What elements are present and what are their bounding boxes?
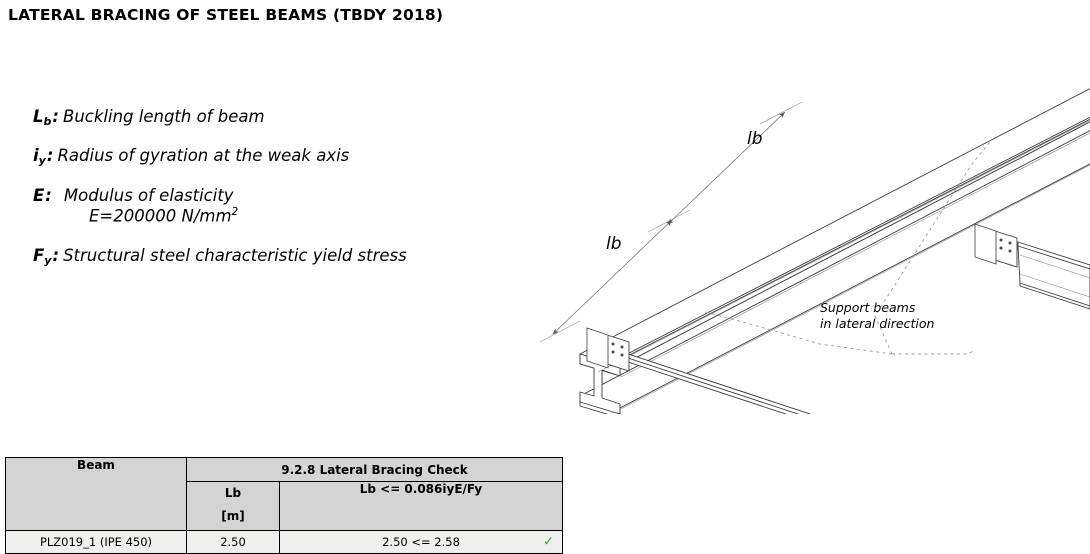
bolt-icon bbox=[1009, 242, 1012, 245]
definition-exponent: 2 bbox=[232, 206, 239, 218]
dimension-label-lb-lower: lb bbox=[606, 234, 622, 254]
definition-symbol-subscript: y bbox=[39, 154, 46, 167]
bolt-icon bbox=[621, 346, 624, 349]
definition-symbol-subscript: b bbox=[44, 115, 52, 128]
isometric-beam-diagram: lb lb Support beams in lateral direction bbox=[520, 24, 1090, 414]
column-header-beam: Beam bbox=[6, 458, 187, 531]
stiffener-upper bbox=[975, 224, 996, 264]
page-title: LATERAL BRACING OF STEEL BEAMS (TBDY 201… bbox=[8, 6, 443, 24]
column-header-expression: Lb <= 0.086iyE/Fy bbox=[280, 482, 563, 531]
column-header-lb-label: Lb bbox=[187, 482, 279, 504]
dimension-line-lb-upper bbox=[668, 112, 785, 224]
table-body: PLZ019_1 (IPE 450) 2.50 2.50 <= 2.58 ✓ bbox=[6, 531, 563, 554]
table-header: Beam 9.2.8 Lateral Bracing Check Lb [m] … bbox=[6, 458, 563, 531]
table-row[interactable]: PLZ019_1 (IPE 450) 2.50 2.50 <= 2.58 ✓ bbox=[6, 531, 563, 554]
definition-text: Modulus of elasticity bbox=[64, 186, 234, 205]
cell-lb-value: 2.50 bbox=[187, 531, 280, 554]
bolt-icon bbox=[621, 354, 624, 357]
lateral-bracing-results-table: Beam 9.2.8 Lateral Bracing Check Lb [m] … bbox=[5, 457, 563, 554]
connection-plate-upper bbox=[995, 231, 1017, 267]
bolted-connection-upper bbox=[995, 231, 1017, 267]
definition-symbol-subscript: y bbox=[44, 254, 51, 267]
bolt-icon bbox=[612, 343, 615, 346]
table-header-row-1: Beam 9.2.8 Lateral Bracing Check bbox=[6, 458, 563, 482]
definition-colon: : bbox=[51, 246, 63, 265]
stiffener-lower bbox=[587, 328, 608, 368]
definition-item-lb: Lb:Buckling length of beam bbox=[33, 108, 503, 126]
leader-to-note bbox=[892, 350, 975, 354]
dimension-label-lb-upper: lb bbox=[747, 129, 763, 149]
column-header-lb: Lb [m] bbox=[187, 482, 280, 531]
definition-symbol: iy bbox=[33, 147, 46, 165]
definition-item-fy: Fy:Structural steel characteristic yield… bbox=[33, 247, 503, 265]
bolt-icon bbox=[1000, 247, 1003, 250]
cell-expression-text: 2.50 <= 2.58 bbox=[382, 535, 460, 549]
definition-symbol: E bbox=[33, 187, 44, 205]
cell-expression: 2.50 <= 2.58 ✓ bbox=[280, 531, 563, 554]
definition-colon: : bbox=[51, 107, 63, 126]
note-line-2: in lateral direction bbox=[820, 316, 934, 331]
definition-value-line: E=200000 N/mm2 bbox=[33, 207, 503, 226]
definition-colon: : bbox=[46, 146, 58, 165]
support-beam-upper bbox=[1018, 242, 1090, 309]
definition-symbol: Fy bbox=[33, 247, 51, 265]
definition-text: Radius of gyration at the weak axis bbox=[57, 146, 349, 165]
status-check-icon: ✓ bbox=[543, 536, 554, 549]
bolt-icon bbox=[612, 351, 615, 354]
note-line-1: Support beams bbox=[820, 300, 916, 315]
definition-item-iy: iy:Radius of gyration at the weak axis bbox=[33, 147, 503, 165]
definition-symbol: Lb bbox=[33, 108, 51, 126]
definition-colon: : bbox=[44, 186, 64, 205]
bolt-icon bbox=[1000, 239, 1003, 242]
definition-text: Buckling length of beam bbox=[63, 107, 265, 126]
cell-beam-name: PLZ019_1 (IPE 450) bbox=[6, 531, 187, 554]
column-header-check-group: 9.2.8 Lateral Bracing Check bbox=[187, 458, 563, 482]
definition-text: Structural steel characteristic yield st… bbox=[63, 246, 407, 265]
bolt-icon bbox=[1009, 250, 1012, 253]
column-header-lb-unit: [m] bbox=[187, 505, 279, 527]
definition-item-e: E:Modulus of elasticity E=200000 N/mm2 bbox=[33, 187, 503, 226]
definitions-list: Lb:Buckling length of beam iy:Radius of … bbox=[33, 108, 503, 287]
